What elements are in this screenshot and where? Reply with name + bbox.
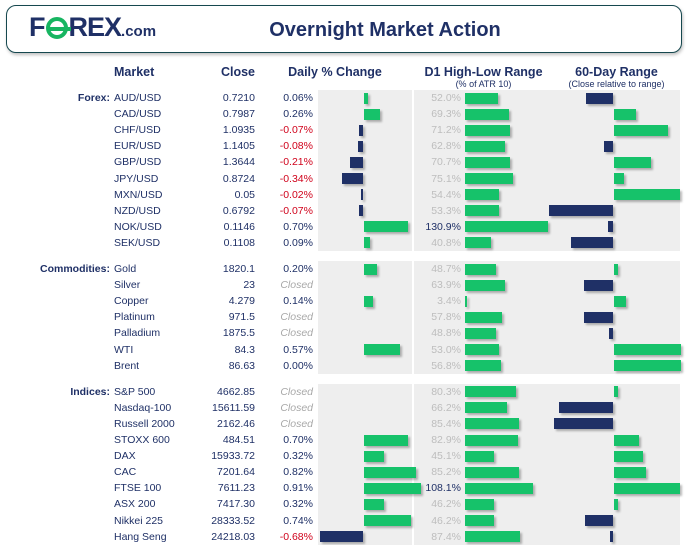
daily-change-value: -0.34% (258, 171, 313, 187)
table-row[interactable]: Forex:AUD/USD0.72100.06% (0, 90, 694, 106)
table-row[interactable]: WTI84.30.57% (0, 342, 694, 358)
daily-change-value: 0.70% (258, 432, 313, 448)
close-value: 0.8724 (180, 171, 255, 187)
daily-change-value: 0.14% (258, 293, 313, 309)
daily-change-value: 0.91% (258, 480, 313, 496)
daily-change-value: 0.09% (258, 235, 313, 251)
table-row[interactable]: ASX 2007417.300.32% (0, 496, 694, 512)
close-value: 0.7987 (180, 106, 255, 122)
close-value: 7201.64 (180, 464, 255, 480)
daily-change-value: Closed (258, 400, 313, 416)
table-row[interactable]: CAC7201.640.82% (0, 464, 694, 480)
forex-logo[interactable]: FREX.com (29, 14, 156, 44)
daily-change-value: 0.70% (258, 219, 313, 235)
daily-change-value: 0.06% (258, 90, 313, 106)
close-value: 0.1146 (180, 219, 255, 235)
daily-change-value: Closed (258, 416, 313, 432)
daily-change-value: 0.82% (258, 464, 313, 480)
close-value: 1875.5 (180, 325, 255, 341)
close-value: 0.7210 (180, 90, 255, 106)
logo-prefix: F (29, 14, 45, 41)
table-row[interactable]: Russell 20002162.46Closed (0, 416, 694, 432)
close-value: 0.6792 (180, 203, 255, 219)
section-label: Indices: (0, 384, 110, 400)
close-value: 86.63 (180, 358, 255, 374)
column-header-close: Close (180, 65, 255, 79)
close-value: 971.5 (180, 309, 255, 325)
close-value: 7611.23 (180, 480, 255, 496)
close-value: 4662.85 (180, 384, 255, 400)
daily-change-value: Closed (258, 325, 313, 341)
table-row[interactable]: Commodities:Gold1820.10.20% (0, 261, 694, 277)
column-subheader-d1-range: (% of ATR 10) (414, 79, 553, 89)
table-row[interactable]: MXN/USD0.05-0.02% (0, 187, 694, 203)
close-value: 15933.72 (180, 448, 255, 464)
table-row[interactable]: NOK/USD0.11460.70% (0, 219, 694, 235)
logo-mid: REX (69, 14, 122, 41)
euro-circle-icon (46, 17, 68, 39)
column-header-daily-change: Daily % Change (280, 65, 390, 79)
close-value: 84.3 (180, 342, 255, 358)
table-row[interactable]: Nikkei 22528333.520.74% (0, 513, 694, 529)
close-value: 28333.52 (180, 513, 255, 529)
daily-change-value: -0.07% (258, 203, 313, 219)
table-row[interactable]: Nasdaq-10015611.59Closed (0, 400, 694, 416)
table-row[interactable]: Copper4.2790.14% (0, 293, 694, 309)
header-banner: FREX.com Overnight Market Action (6, 5, 682, 53)
daily-change-value: 0.20% (258, 261, 313, 277)
close-value: 484.51 (180, 432, 255, 448)
table-row[interactable]: NZD/USD0.6792-0.07% (0, 203, 694, 219)
table-row[interactable]: EUR/USD1.1405-0.08% (0, 138, 694, 154)
daily-change-value: Closed (258, 277, 313, 293)
close-value: 24218.03 (180, 529, 255, 545)
daily-change-value: Closed (258, 384, 313, 400)
daily-change-value: -0.08% (258, 138, 313, 154)
daily-change-value: 0.57% (258, 342, 313, 358)
table-row[interactable]: Hang Seng24218.03-0.68% (0, 529, 694, 545)
daily-change-value: 0.26% (258, 106, 313, 122)
close-value: 4.279 (180, 293, 255, 309)
daily-change-value: 0.74% (258, 513, 313, 529)
section-label: Forex: (0, 90, 110, 106)
table-row[interactable]: Palladium1875.5Closed (0, 325, 694, 341)
daily-change-value: 0.32% (258, 448, 313, 464)
close-value: 2162.46 (180, 416, 255, 432)
table-row[interactable]: GBP/USD1.3644-0.21% (0, 154, 694, 170)
daily-change-value: Closed (258, 309, 313, 325)
logo-text: FREX.com (29, 14, 156, 45)
table-row[interactable]: Platinum971.5Closed (0, 309, 694, 325)
daily-change-value: 0.00% (258, 358, 313, 374)
close-value: 7417.30 (180, 496, 255, 512)
table-row[interactable]: FTSE 1007611.230.91% (0, 480, 694, 496)
close-value: 23 (180, 277, 255, 293)
close-value: 1.0935 (180, 122, 255, 138)
column-header-d1-range: D1 High-Low Range (414, 65, 553, 79)
daily-change-value: -0.21% (258, 154, 313, 170)
table-row[interactable]: CHF/USD1.0935-0.07% (0, 122, 694, 138)
table-row[interactable]: Brent86.630.00% (0, 358, 694, 374)
close-value: 0.05 (180, 187, 255, 203)
table-row[interactable]: Indices:S&P 5004662.85Closed (0, 384, 694, 400)
table-row[interactable]: JPY/USD0.8724-0.34% (0, 171, 694, 187)
logo-suffix: .com (121, 18, 156, 45)
column-subheader-60day-range: (Close relative to range) (553, 79, 680, 89)
close-value: 0.1108 (180, 235, 255, 251)
table-row[interactable]: DAX15933.720.32% (0, 448, 694, 464)
daily-change-value: -0.07% (258, 122, 313, 138)
close-value: 1820.1 (180, 261, 255, 277)
table-row[interactable]: STOXX 600484.510.70% (0, 432, 694, 448)
daily-change-value: 0.32% (258, 496, 313, 512)
close-value: 15611.59 (180, 400, 255, 416)
section-label: Commodities: (0, 261, 110, 277)
close-value: 1.1405 (180, 138, 255, 154)
table-row[interactable]: SEK/USD0.11080.09% (0, 235, 694, 251)
column-header-60day-range: 60-Day Range (553, 65, 680, 79)
daily-change-value: -0.02% (258, 187, 313, 203)
table-row[interactable]: CAD/USD0.79870.26% (0, 106, 694, 122)
close-value: 1.3644 (180, 154, 255, 170)
daily-change-value: -0.68% (258, 529, 313, 545)
table-row[interactable]: Silver23Closed (0, 277, 694, 293)
